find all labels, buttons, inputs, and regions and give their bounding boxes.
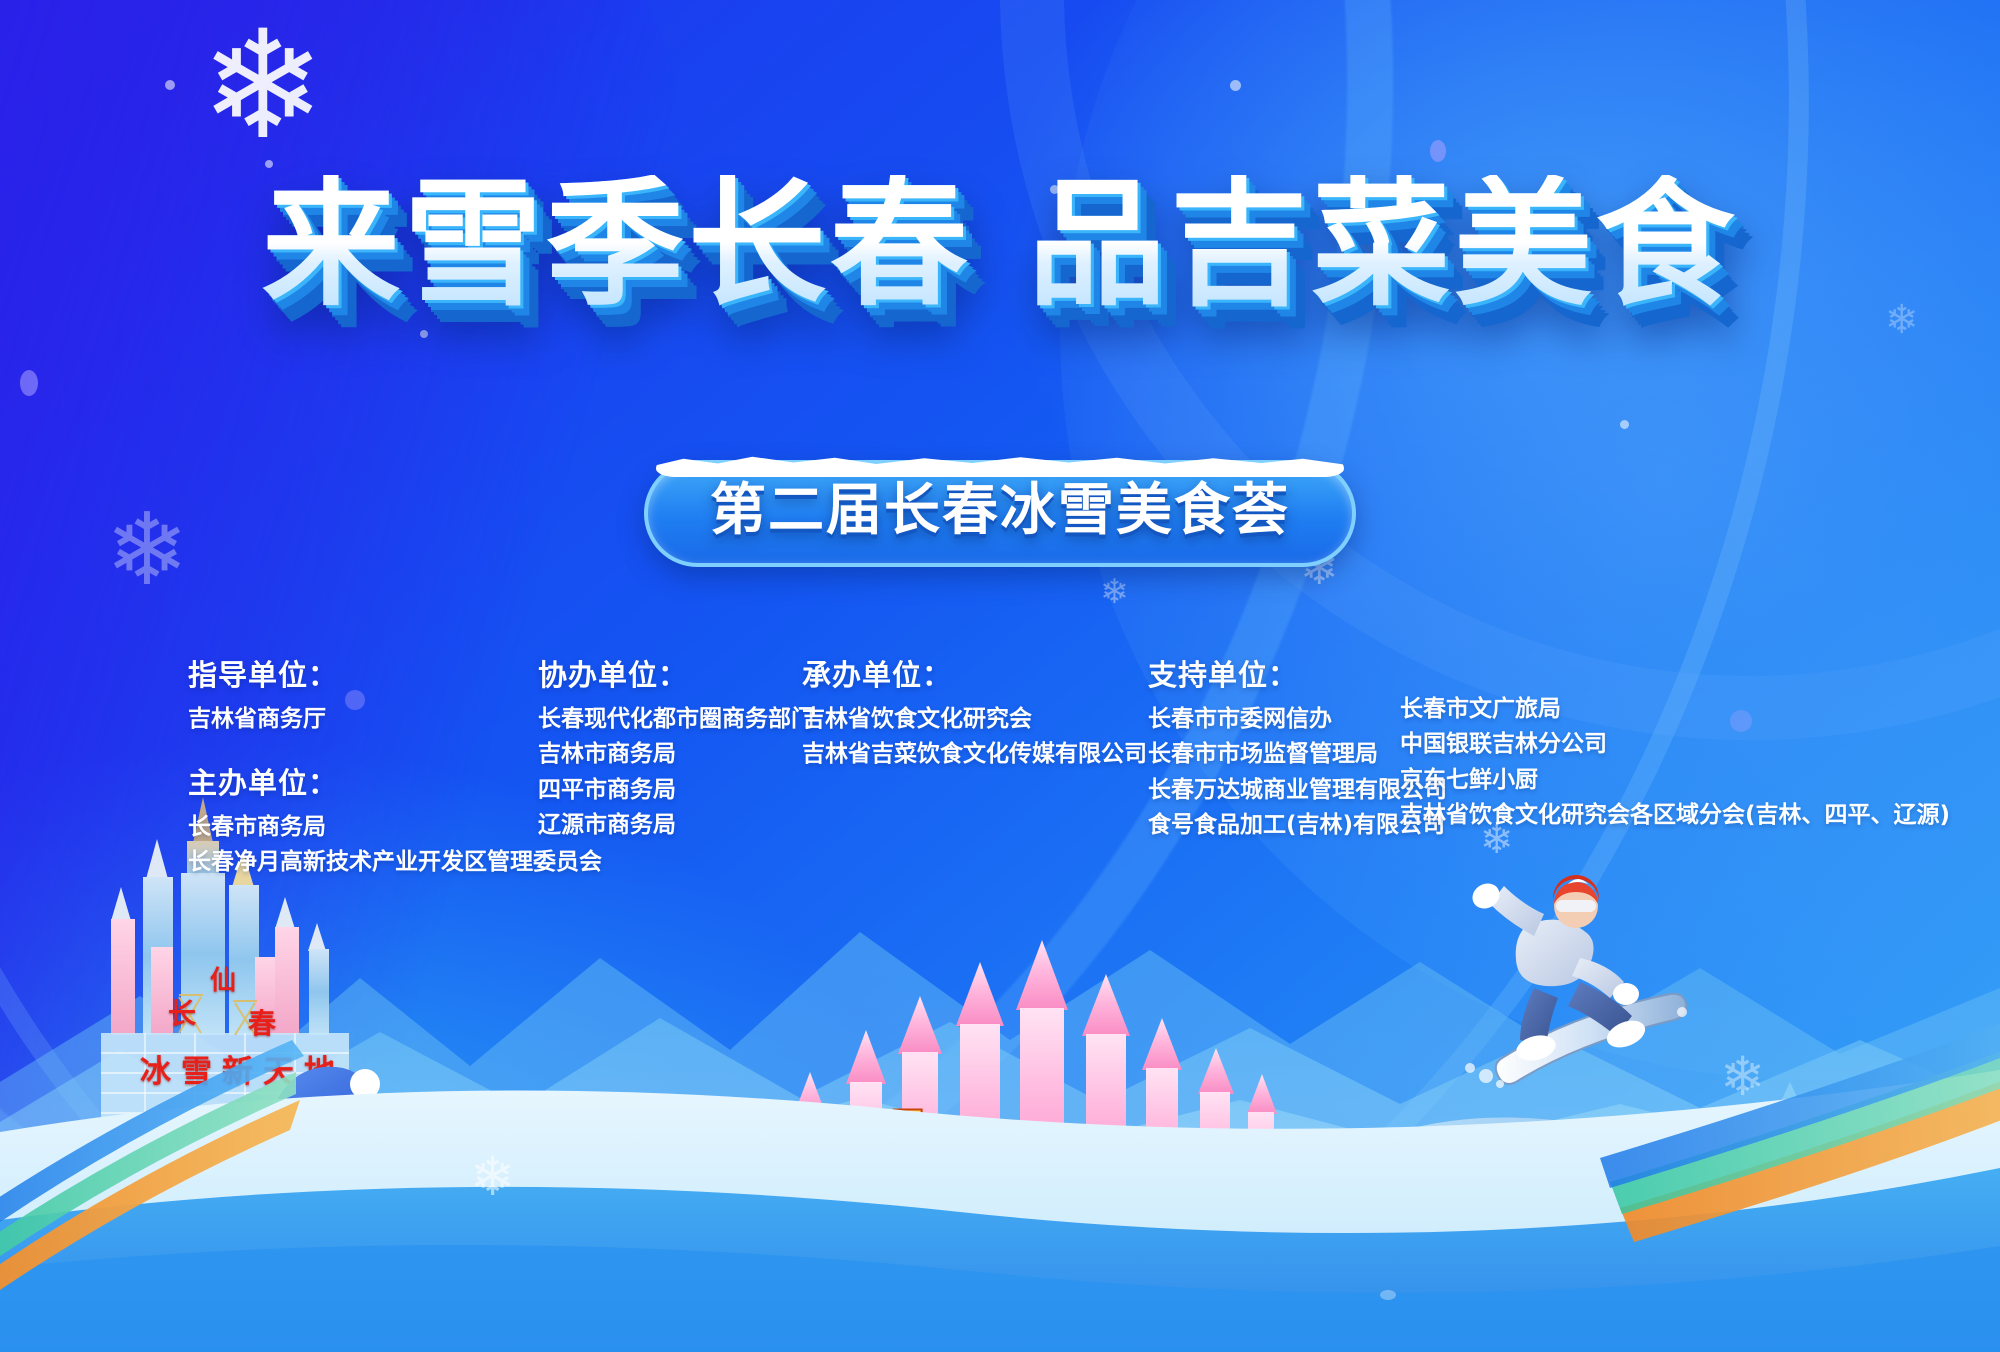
credit-block-undertaker: 承办单位： 吉林省饮食文化研究会 吉林省吉菜饮食文化传媒有限公司 [802, 652, 1147, 773]
credit-item: 吉林省商务厅 [188, 702, 338, 737]
credit-heading-guidance: 指导单位： [188, 652, 338, 694]
credit-item: 长春市文广旅局 [1400, 692, 1950, 727]
credit-item: 四平市商务局 [538, 773, 814, 808]
decor-dot [165, 80, 175, 90]
credit-item: 长春现代化都市圈商务部门 [538, 702, 814, 737]
credit-heading-supporter: 支持单位： [1148, 652, 1447, 694]
decor-dot [420, 330, 428, 338]
credit-item: 长春净月高新技术产业开发区管理委员会 [188, 845, 602, 880]
credit-block-coorganizer: 协办单位： 长春现代化都市圈商务部门 吉林市商务局 四平市商务局 辽源市商务局 [538, 652, 814, 844]
subtitle-text: 第二届长春冰雪美食荟 [710, 480, 1290, 543]
title-line-2: 品吉菜美食 [1028, 164, 1738, 325]
credit-heading-coorganizer: 协办单位： [538, 652, 814, 694]
snowflake-icon: ❄ [200, 10, 326, 160]
credit-item: 辽源市商务局 [538, 808, 814, 843]
credit-block-supporter-secondary: 长春市文广旅局 中国银联吉林分公司 京东七鲜小厨 吉林省饮食文化研究会各区域分会… [1400, 692, 1950, 834]
title-text: 来雪季长春品吉菜美食 [252, 175, 1748, 316]
credit-item: 吉林省饮食文化研究会 [802, 702, 1147, 737]
credit-item: 吉林省饮食文化研究会各区域分会(吉林、四平、辽源) [1400, 798, 1950, 833]
decor-dot [20, 370, 38, 396]
poster-subtitle: 第二届长春冰雪美食荟 [0, 460, 2000, 567]
credit-item: 吉林市商务局 [538, 737, 814, 772]
title-line-1: 来雪季长春 [262, 164, 972, 325]
decor-dot [1430, 140, 1446, 162]
subtitle-pill: 第二届长春冰雪美食荟 [644, 460, 1356, 567]
credit-item: 京东七鲜小厨 [1400, 763, 1950, 798]
snowflake-icon: ❄ [1100, 575, 1129, 609]
decor-dot [1380, 1290, 1396, 1300]
credit-item: 中国银联吉林分公司 [1400, 727, 1950, 762]
credit-item: 吉林省吉菜饮食文化传媒有限公司 [802, 737, 1147, 772]
snow-field [0, 1022, 2000, 1352]
organizer-credits: 指导单位： 吉林省商务厅 主办单位： 长春市商务局 长春净月高新技术产业开发区管… [0, 652, 2000, 862]
credit-block-guidance: 指导单位： 吉林省商务厅 [188, 652, 338, 737]
poster-canvas: 仙 长 春 冰雪新天地 [0, 0, 2000, 1352]
credit-heading-undertaker: 承办单位： [802, 652, 1147, 694]
snow-cap-decoration [656, 451, 1344, 477]
decor-dot [1230, 80, 1241, 91]
decor-dot [1620, 420, 1629, 429]
poster-title: 来雪季长春品吉菜美食 [0, 175, 2000, 316]
